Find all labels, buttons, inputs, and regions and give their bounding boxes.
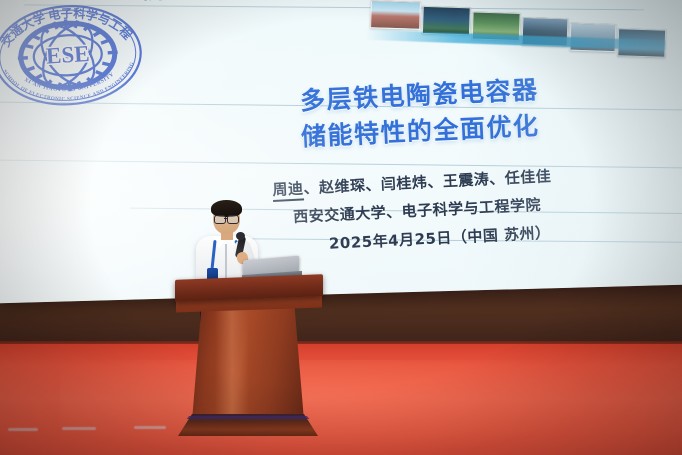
eyeglasses-bridge — [224, 218, 227, 219]
slide-deco-line — [0, 159, 682, 168]
eyeglasses-right-lens — [227, 215, 239, 224]
ese-school-logo: ESE 西安交通大学 电子科学与工程学院 XI'AN JIAOTONG UNIV… — [0, 0, 147, 112]
slide-university-title-en: NG UNIVERSITY — [144, 0, 283, 3]
carpet-seam-marker — [62, 427, 96, 430]
projection-screen: 交通大學 NG UNIVERSITY — [0, 0, 682, 303]
carpet-seam-marker — [8, 428, 38, 431]
slide-affiliation: 西安交通大学、电子科学与工程学院 — [293, 194, 542, 227]
podium-highlight — [215, 304, 249, 422]
carpet-light-glow — [60, 360, 620, 455]
microphone-head — [236, 232, 245, 240]
slide-date-location: 2025年4月25日（中国 苏州） — [328, 222, 551, 254]
podium-base-trim — [184, 416, 312, 419]
carpet-seam-marker — [134, 426, 166, 429]
co-authors: 、赵维琛、闫桂炜、王震涛、任佳佳 — [303, 167, 552, 197]
campus-photo — [370, 0, 421, 30]
conference-photo-scene: 交通大學 NG UNIVERSITY — [0, 0, 682, 455]
presenting-author: 周迪 — [272, 179, 304, 202]
eyeglasses-left-lens — [214, 215, 226, 224]
logo-center-text: ESE — [45, 41, 90, 69]
campus-photo — [422, 6, 471, 36]
